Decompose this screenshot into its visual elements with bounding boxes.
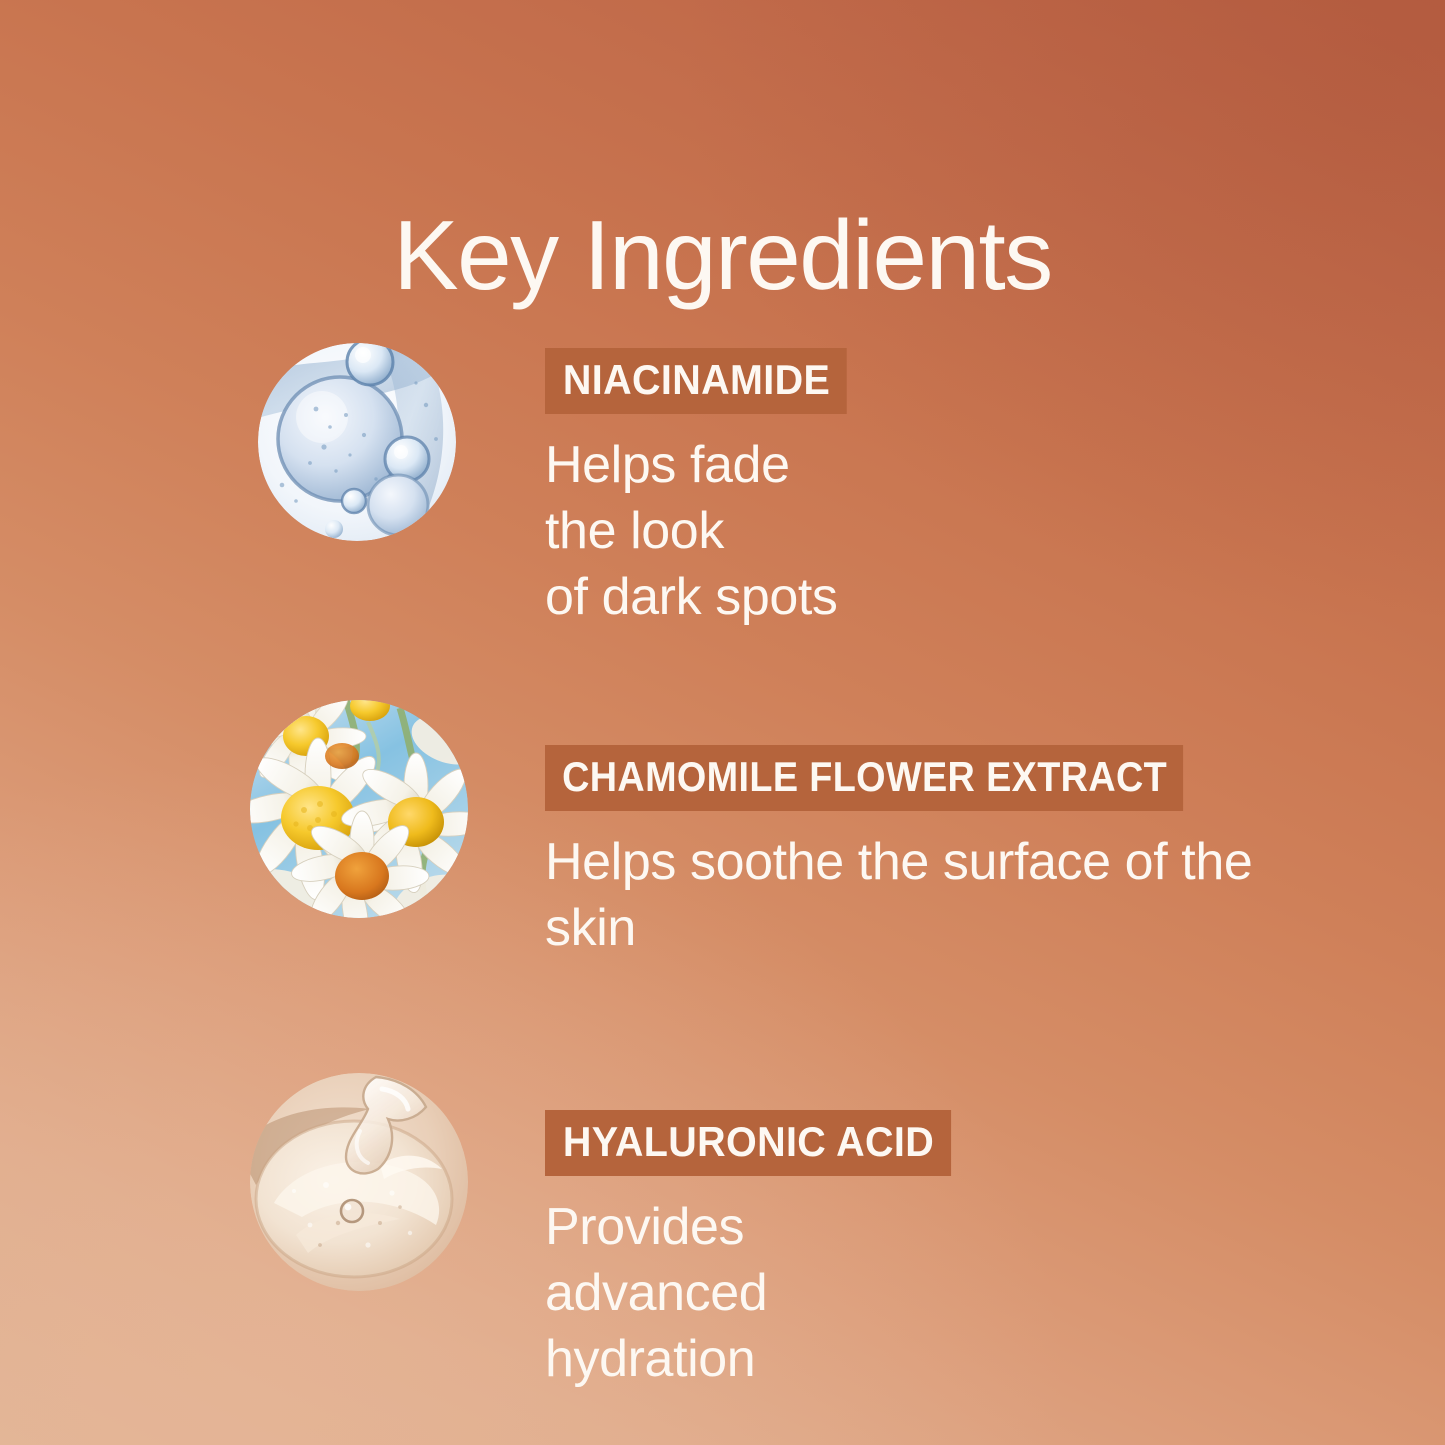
ingredient-text-block: NIACINAMIDE Helps fade the look of dark … <box>545 348 866 630</box>
ingredient-name-badge: NIACINAMIDE <box>545 348 847 414</box>
ingredient-name-badge: CHAMOMILE FLOWER EXTRACT <box>545 745 1183 811</box>
chamomile-flowers-icon <box>250 700 468 918</box>
ingredient-description: Provides advanced hydration <box>545 1194 977 1392</box>
ingredient-description: Helps fade the look of dark spots <box>545 432 866 630</box>
ingredient-description: Helps soothe the surface of the skin <box>545 829 1254 961</box>
ingredient-text-block: CHAMOMILE FLOWER EXTRACT Helps soothe th… <box>545 745 1254 961</box>
key-ingredients-infographic: Key Ingredients <box>0 0 1445 1445</box>
page-title: Key Ingredients <box>0 200 1445 310</box>
ingredient-text-block: HYALURONIC ACID Provides advanced hydrat… <box>545 1110 977 1392</box>
ingredient-name-badge: HYALURONIC ACID <box>545 1110 951 1176</box>
clear-serum-droplet-icon <box>250 1073 468 1291</box>
gel-bubbles-blue-icon <box>258 343 456 541</box>
